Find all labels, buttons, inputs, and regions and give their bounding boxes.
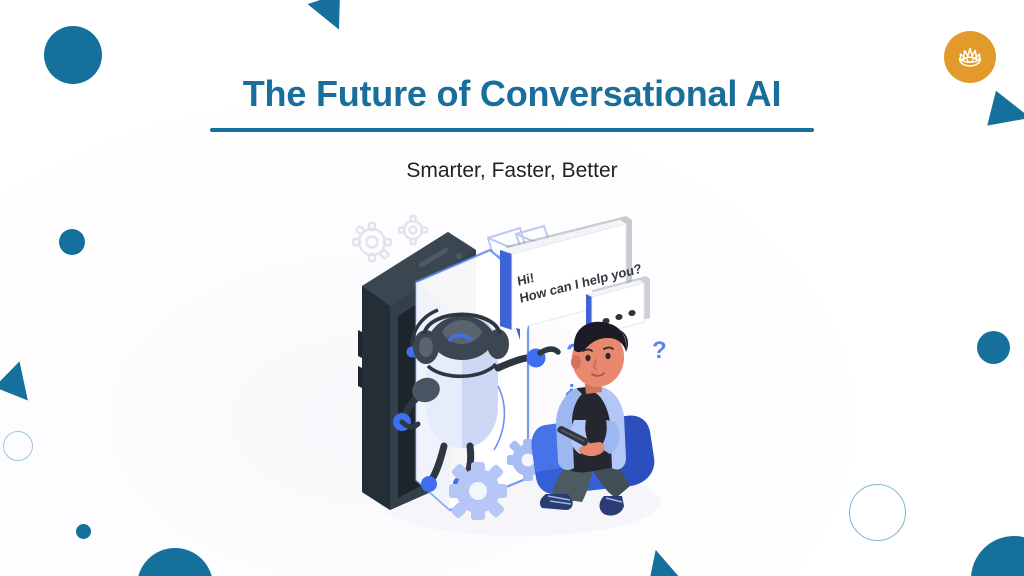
presentation-slide: The Future of Conversational AI Smarter,…	[0, 0, 1024, 576]
slide-subtitle: Smarter, Faster, Better	[0, 159, 1024, 183]
decor-blob-bottom-left	[137, 548, 213, 576]
lotus-icon	[953, 40, 987, 74]
decor-circle-right-mid	[977, 331, 1010, 364]
page-title: The Future of Conversational AI	[0, 74, 1024, 114]
decor-triangle-bottom	[644, 547, 682, 576]
decor-circle-outline-left	[3, 431, 33, 461]
chatbot-conversation-illustration: Hi! How can I help you?	[330, 210, 710, 540]
decor-blob-bottom-right	[971, 536, 1024, 576]
decor-circle-outline-bottom-right	[849, 484, 906, 541]
question-mark-2: ?	[652, 337, 667, 364]
illustration-svg: Hi! How can I help you?	[330, 210, 710, 540]
decor-circle-small-left	[76, 524, 91, 539]
gear-icon-large	[449, 462, 507, 520]
title-underline-rule	[210, 128, 814, 132]
decor-triangle-top	[308, 0, 351, 36]
decor-circle-mid-left	[59, 229, 85, 255]
decor-triangle-left	[0, 361, 28, 406]
heading-block: The Future of Conversational AI Smarter,…	[0, 74, 1024, 114]
